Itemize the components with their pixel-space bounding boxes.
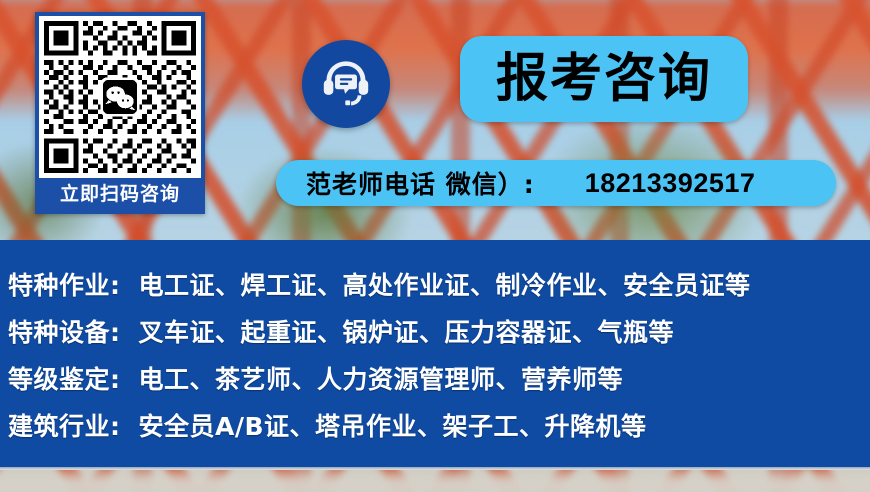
category-label: 建筑行业:: [8, 407, 121, 443]
qr-code-caption: 立即扫码咨询: [39, 178, 201, 210]
category-label: 特种作业:: [8, 266, 121, 302]
qr-code-image[interactable]: [39, 16, 201, 178]
certificate-categories-panel: 特种作业: 电工证、焊工证、高处作业证、制冷作业、安全员证等 特种设备: 叉车证…: [0, 240, 870, 467]
advertisement-banner: 立即扫码咨询 报考咨询: [0, 0, 870, 492]
category-value: 电工、茶艺师、人力资源管理师、营养师等: [139, 360, 624, 396]
contact-phone-pill[interactable]: 范老师电话 微信）: 18213392517: [276, 160, 836, 206]
qr-code-matrix: [39, 16, 201, 178]
headset-support-badge: [302, 40, 390, 128]
consultation-title-text: 报考咨询: [496, 53, 712, 105]
category-row-grade-assessment: 等级鉴定: 电工、茶艺师、人力资源管理师、营养师等: [0, 354, 870, 401]
category-label: 特种设备:: [8, 313, 121, 349]
panel-bottom-divider: [0, 467, 870, 470]
contact-phone-number[interactable]: 18213392517: [585, 168, 756, 199]
headset-support-icon: [317, 55, 375, 113]
category-row-construction-industry: 建筑行业: 安全员A/B证、塔吊作业、架子工、升降机等: [0, 401, 870, 448]
qr-code-card[interactable]: 立即扫码咨询: [35, 12, 205, 214]
category-value: 叉车证、起重证、锅炉证、压力容器证、气瓶等: [139, 313, 675, 349]
category-row-special-operations: 特种作业: 电工证、焊工证、高处作业证、制冷作业、安全员证等: [0, 260, 870, 307]
contact-label: 范老师电话 微信）:: [306, 165, 535, 201]
consultation-title-pill: 报考咨询: [460, 36, 748, 122]
category-value: 电工证、焊工证、高处作业证、制冷作业、安全员证等: [139, 266, 751, 302]
category-label: 等级鉴定:: [8, 360, 121, 396]
category-row-special-equipment: 特种设备: 叉车证、起重证、锅炉证、压力容器证、气瓶等: [0, 307, 870, 354]
category-value: 安全员A/B证、塔吊作业、架子工、升降机等: [139, 407, 647, 443]
